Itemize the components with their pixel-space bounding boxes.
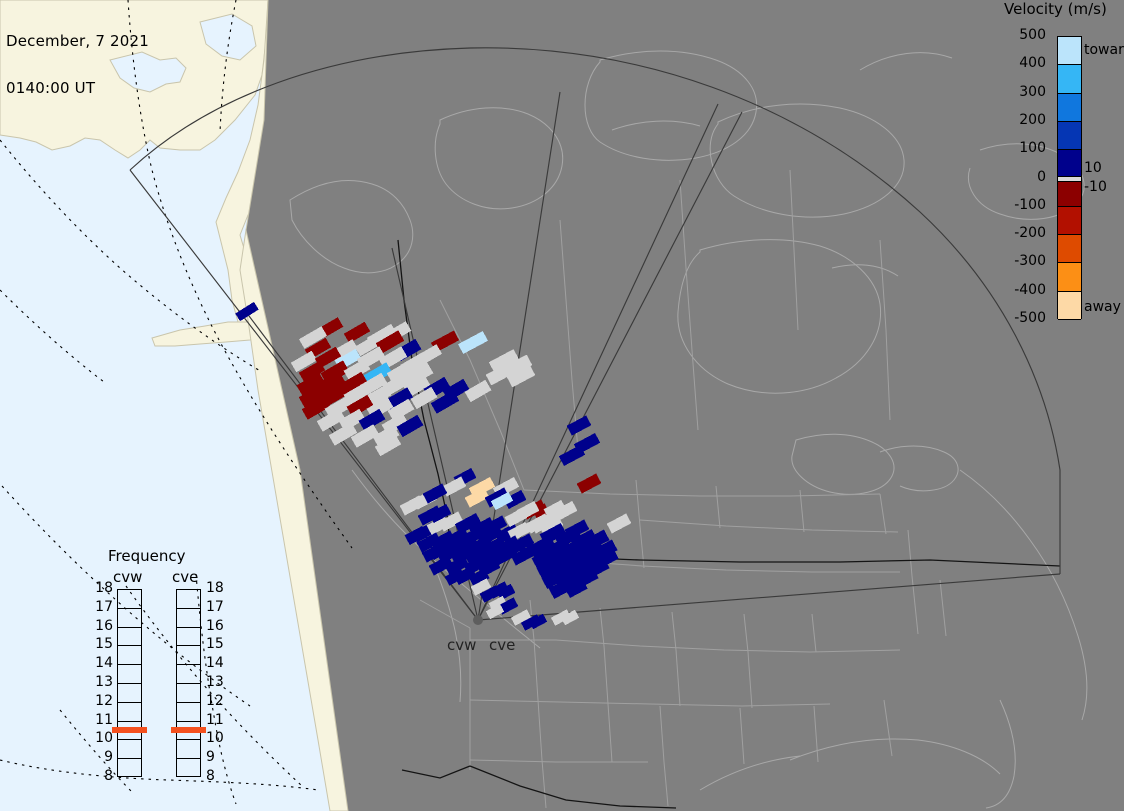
frequency-cell [118, 665, 141, 684]
site-label-cve: cve [489, 636, 515, 654]
frequency-tick-label: 8 [206, 768, 215, 784]
date-text: December, 7 2021 [6, 34, 149, 50]
radar-plot-window: December, 7 2021 0140:00 UT Velocity (m/… [0, 0, 1124, 811]
frequency-tick-label: 18 [206, 580, 224, 596]
frequency-cell [177, 609, 200, 628]
frequency-tick-label: 18 [93, 580, 113, 596]
frequency-cell [118, 609, 141, 628]
velocity-tick-label: -300 [1014, 253, 1046, 269]
velocity-side-labels: toward10-10away [1084, 0, 1124, 340]
frequency-tick-label: 16 [206, 618, 224, 634]
velocity-tick-label: -400 [1014, 282, 1046, 298]
frequency-tick-label: 9 [206, 749, 215, 765]
frequency-tick-label: 12 [93, 693, 113, 709]
frequency-tick-label: 10 [93, 730, 113, 746]
velocity-tick-label: 400 [1019, 55, 1046, 71]
frequency-bar-cve [176, 589, 201, 777]
frequency-cell [118, 740, 141, 759]
frequency-tick-label: 16 [93, 618, 113, 634]
frequency-tick-label: 17 [93, 599, 113, 615]
frequency-cell [177, 665, 200, 684]
ground-scatter-upper-label: 10 [1084, 160, 1102, 176]
velocity-tick-label: 500 [1019, 27, 1046, 43]
frequency-column-label-cve: cve [172, 568, 198, 586]
velocity-colorbar-segment [1058, 94, 1081, 122]
ground-scatter-band [1058, 176, 1081, 182]
frequency-bar-cvw [117, 589, 142, 777]
velocity-colorbar-segment [1058, 150, 1081, 178]
frequency-marker-cvw [112, 727, 147, 733]
frequency-cell [118, 646, 141, 665]
velocity-colorbar-segment [1058, 65, 1081, 93]
map-canvas [0, 0, 1124, 811]
velocity-tick-label: -500 [1014, 310, 1046, 326]
frequency-tick-label: 17 [206, 599, 224, 615]
frequency-cell [118, 684, 141, 703]
frequency-cell [118, 628, 141, 647]
frequency-tick-label: 9 [93, 749, 113, 765]
frequency-cell [177, 759, 200, 778]
radar-site-marker [473, 615, 483, 625]
velocity-tick-label: 0 [1037, 169, 1046, 185]
time-text: 0140:00 UT [6, 81, 149, 97]
velocity-colorbar-segment [1058, 37, 1081, 65]
frequency-tick-label: 14 [206, 655, 224, 671]
frequency-legend-title: Frequency [108, 549, 186, 565]
frequency-cell [177, 646, 200, 665]
frequency-tick-label: 8 [93, 768, 113, 784]
frequency-tick-label: 15 [206, 636, 224, 652]
velocity-colorbar-segment [1058, 292, 1081, 320]
frequency-cell [177, 628, 200, 647]
velocity-tick-label: -200 [1014, 225, 1046, 241]
velocity-tick-label: -100 [1014, 197, 1046, 213]
timestamp-block: December, 7 2021 0140:00 UT [6, 2, 149, 128]
frequency-tick-label: 10 [206, 730, 224, 746]
frequency-cell [177, 740, 200, 759]
frequency-cell [118, 759, 141, 778]
frequency-cell [177, 684, 200, 703]
velocity-colorbar-segment [1058, 207, 1081, 235]
frequency-tick-label: 11 [93, 712, 113, 728]
frequency-tick-label: 13 [206, 674, 224, 690]
frequency-tick-label: 11 [206, 712, 224, 728]
velocity-colorbar-segment [1058, 122, 1081, 150]
velocity-tick-label: 300 [1019, 84, 1046, 100]
site-label-cvw: cvw [447, 636, 476, 654]
frequency-cell [118, 703, 141, 722]
frequency-cell [118, 590, 141, 609]
toward-label: toward [1084, 42, 1124, 58]
away-label: away [1084, 299, 1121, 315]
frequency-tick-label: 12 [206, 693, 224, 709]
velocity-tick-label: 100 [1019, 140, 1046, 156]
frequency-cell [177, 590, 200, 609]
frequency-cell [177, 703, 200, 722]
frequency-tick-label: 14 [93, 655, 113, 671]
velocity-colorbar [1057, 36, 1082, 319]
velocity-colorbar-segment [1058, 179, 1081, 207]
velocity-colorbar-segment [1058, 235, 1081, 263]
velocity-tick-labels: 5004003002001000-100-200-300-400-500 [1004, 0, 1050, 340]
frequency-tick-label: 15 [93, 636, 113, 652]
frequency-marker-cve [171, 727, 206, 733]
ground-scatter-lower-label: -10 [1084, 179, 1107, 195]
velocity-colorbar-segment [1058, 263, 1081, 291]
velocity-tick-label: 200 [1019, 112, 1046, 128]
frequency-tick-label: 13 [93, 674, 113, 690]
frequency-column-label-cvw: cvw [113, 568, 142, 586]
